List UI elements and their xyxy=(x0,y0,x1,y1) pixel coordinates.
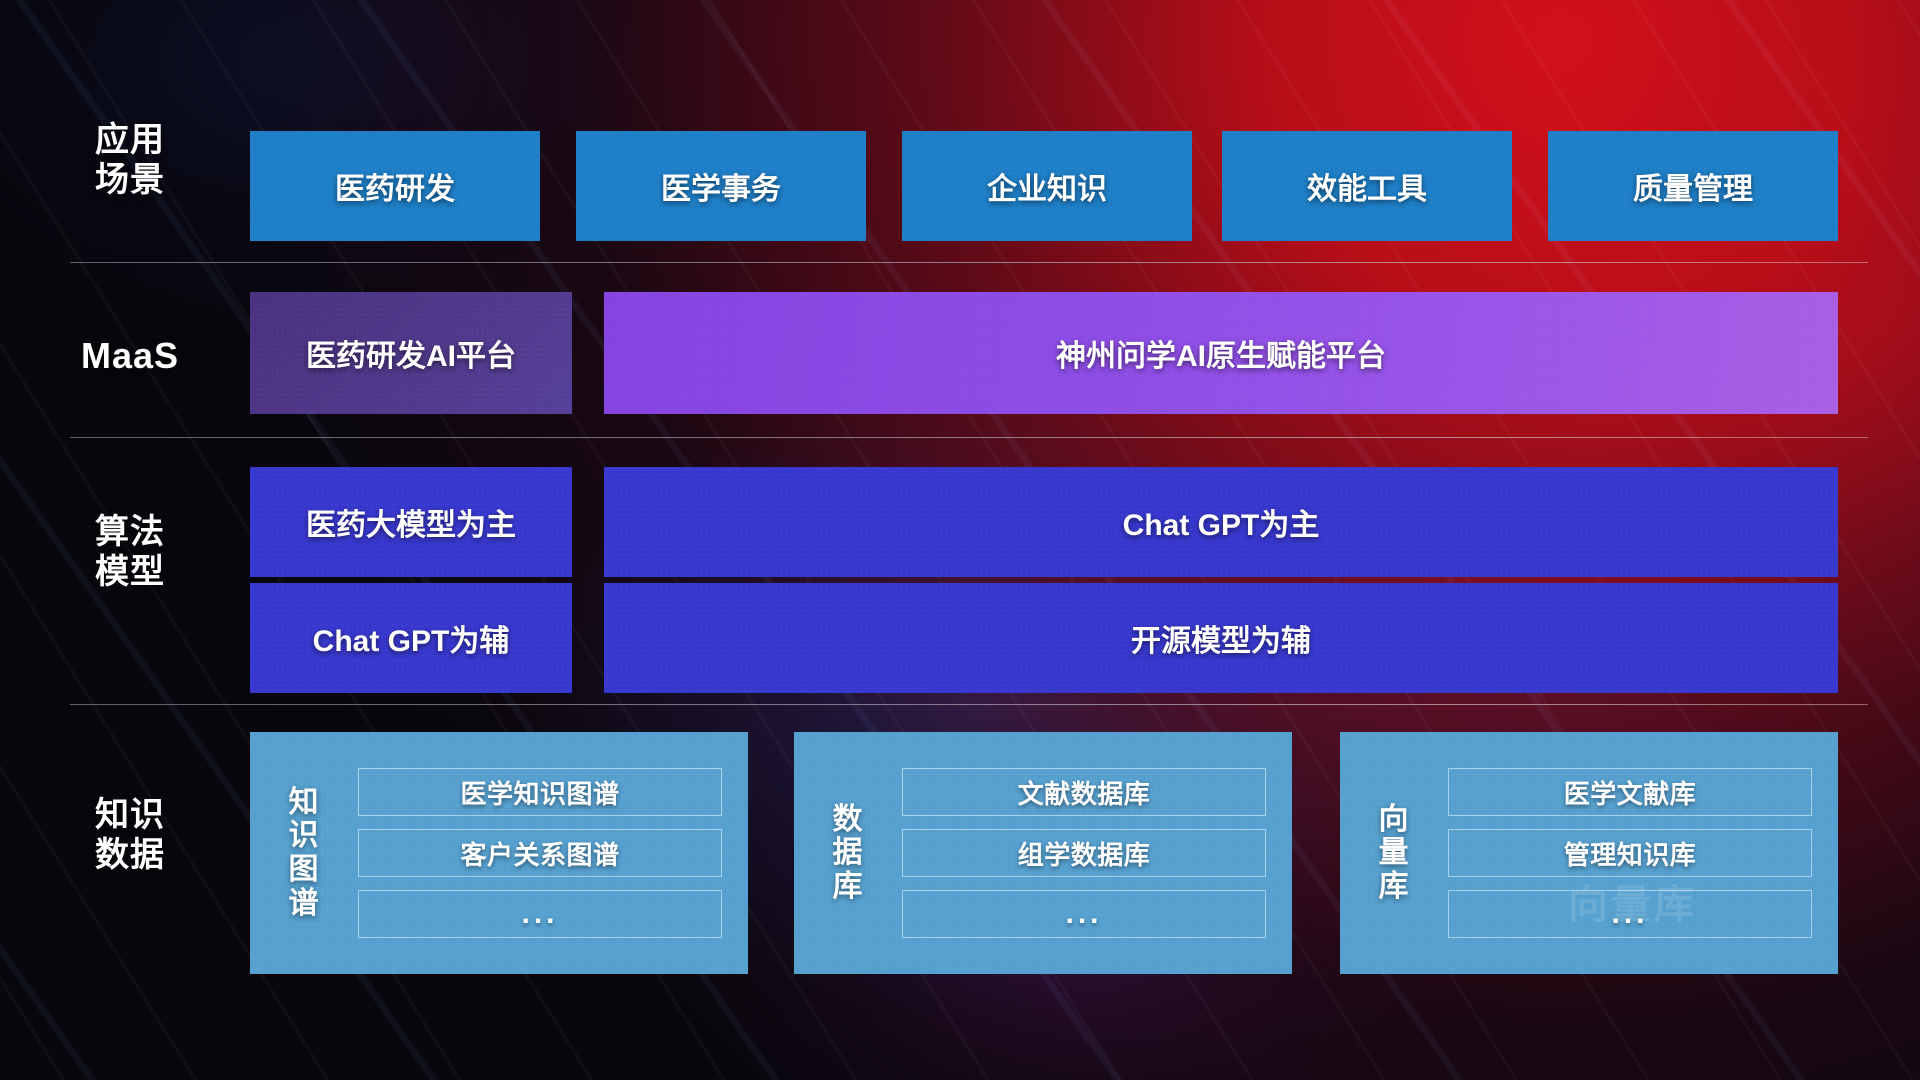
knowledge-item-more[interactable]: ... xyxy=(902,890,1266,938)
knowledge-item[interactable]: 组学数据库 xyxy=(902,829,1266,877)
knowledge-item[interactable]: 医学知识图谱 xyxy=(358,768,722,816)
algorithm-box-primary-left[interactable]: 医药大模型为主 xyxy=(250,467,572,577)
maas-platform-box-left[interactable]: 医药研发AI平台 xyxy=(250,292,572,414)
knowledge-item[interactable]: 客户关系图谱 xyxy=(358,829,722,877)
knowledge-item-more[interactable]: ... xyxy=(1448,890,1812,938)
algorithm-box-primary-right[interactable]: Chat GPT为主 xyxy=(604,467,1838,577)
divider-application-maas xyxy=(70,262,1868,263)
algorithm-box-secondary-right[interactable]: 开源模型为辅 xyxy=(604,583,1838,693)
divider-algorithm-knowledge xyxy=(70,704,1868,705)
knowledge-group-items-database: 文献数据库 组学数据库 ... xyxy=(902,732,1292,974)
app-scenario-box-2[interactable]: 医学事务 xyxy=(576,131,866,241)
knowledge-group-database[interactable]: 数 据 库 文献数据库 组学数据库 ... xyxy=(794,732,1292,974)
knowledge-group-title-knowledge-graph: 知 识 图 谱 xyxy=(250,732,358,974)
divider-maas-algorithm xyxy=(70,437,1868,438)
app-scenario-box-4[interactable]: 效能工具 xyxy=(1222,131,1512,241)
knowledge-group-items-vector-database: 医学文献库 管理知识库 ... xyxy=(1448,732,1838,974)
algorithm-box-secondary-left[interactable]: Chat GPT为辅 xyxy=(250,583,572,693)
row-label-application-scenarios: 应用 场景 xyxy=(70,120,190,200)
knowledge-item[interactable]: 文献数据库 xyxy=(902,768,1266,816)
knowledge-item[interactable]: 管理知识库 xyxy=(1448,829,1812,877)
app-scenario-box-3[interactable]: 企业知识 xyxy=(902,131,1192,241)
app-scenario-box-1[interactable]: 医药研发 xyxy=(250,131,540,241)
knowledge-item[interactable]: 医学文献库 xyxy=(1448,768,1812,816)
knowledge-item-more[interactable]: ... xyxy=(358,890,722,938)
row-label-algorithm-models: 算法 模型 xyxy=(70,512,190,592)
knowledge-group-knowledge-graph[interactable]: 知 识 图 谱 医学知识图谱 客户关系图谱 ... xyxy=(250,732,748,974)
diagram-canvas: 应用 场景 医药研发 医学事务 企业知识 效能工具 质量管理 MaaS 医药研发… xyxy=(0,0,1920,1080)
maas-platform-box-main[interactable]: 神州问学AI原生赋能平台 xyxy=(604,292,1838,414)
row-label-knowledge-data: 知识 数据 xyxy=(70,795,190,875)
knowledge-group-vector-database[interactable]: 向 量 库 向量库 医学文献库 管理知识库 ... xyxy=(1340,732,1838,974)
row-label-maas: MaaS xyxy=(70,335,190,377)
knowledge-group-items-knowledge-graph: 医学知识图谱 客户关系图谱 ... xyxy=(358,732,748,974)
knowledge-group-title-vector-database: 向 量 库 xyxy=(1340,732,1448,974)
app-scenario-box-5[interactable]: 质量管理 xyxy=(1548,131,1838,241)
knowledge-group-title-database: 数 据 库 xyxy=(794,732,902,974)
